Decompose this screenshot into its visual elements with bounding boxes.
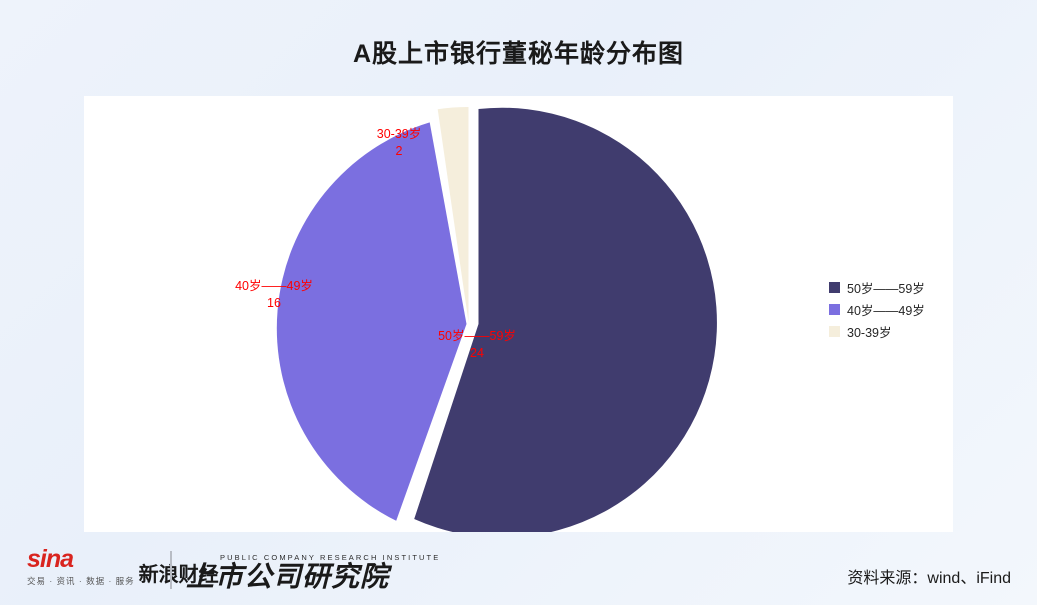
footer-divider [170, 551, 172, 589]
legend-swatch-icon [829, 326, 840, 337]
legend-label-30-39: 30-39岁 [847, 322, 891, 341]
chart-page: A股上市银行董秘年龄分布图 50岁——59岁 24 40岁——49岁 16 30… [0, 0, 1037, 605]
institute-cn-label: 上市公司研究院 [186, 562, 440, 591]
pie-chart-svg [84, 96, 953, 532]
pie-label-30-39: 30-39岁 2 [339, 126, 459, 160]
pie-label-30-39-name: 30-39岁 [339, 126, 459, 143]
legend-label-40-49: 40岁——49岁 [847, 300, 925, 319]
institute-logo: PUBLIC COMPANY RESEARCH INSTITUTE 上市公司研究… [186, 553, 440, 591]
legend-item-50-59[interactable]: 50岁——59岁 [829, 276, 925, 298]
sina-sub: 交易 · 资讯 · 数据 · 服务 [27, 575, 135, 587]
pie-label-50-59-name: 50岁——59岁 [387, 328, 567, 345]
pie-label-40-49-name: 40岁——49岁 [184, 278, 364, 295]
pie-label-40-49: 40岁——49岁 16 [184, 278, 364, 312]
chart-legend: 50岁——59岁 40岁——49岁 30-39岁 [829, 276, 925, 342]
pie-label-30-39-value: 2 [339, 143, 459, 160]
legend-label-50-59: 50岁——59岁 [847, 278, 925, 297]
chart-card: 50岁——59岁 24 40岁——49岁 16 30-39岁 2 50岁——59… [84, 96, 953, 532]
legend-swatch-icon [829, 304, 840, 315]
pie-chart: 50岁——59岁 24 40岁——49岁 16 30-39岁 2 [84, 96, 953, 532]
pie-label-40-49-value: 16 [184, 295, 364, 312]
sina-wordmark: sina 交易 · 资讯 · 数据 · 服务 [27, 547, 135, 587]
pie-label-50-59: 50岁——59岁 24 [387, 328, 567, 362]
page-title: A股上市银行董秘年龄分布图 [0, 34, 1037, 70]
footer-bar: sina 交易 · 资讯 · 数据 · 服务 新浪财经 PUBLIC COMPA… [0, 542, 1037, 605]
sina-word: sina [27, 547, 135, 572]
legend-item-30-39[interactable]: 30-39岁 [829, 320, 925, 342]
legend-item-40-49[interactable]: 40岁——49岁 [829, 298, 925, 320]
legend-swatch-icon [829, 282, 840, 293]
source-note: 资料来源：wind、iFind [847, 564, 1011, 588]
pie-label-50-59-value: 24 [387, 345, 567, 362]
